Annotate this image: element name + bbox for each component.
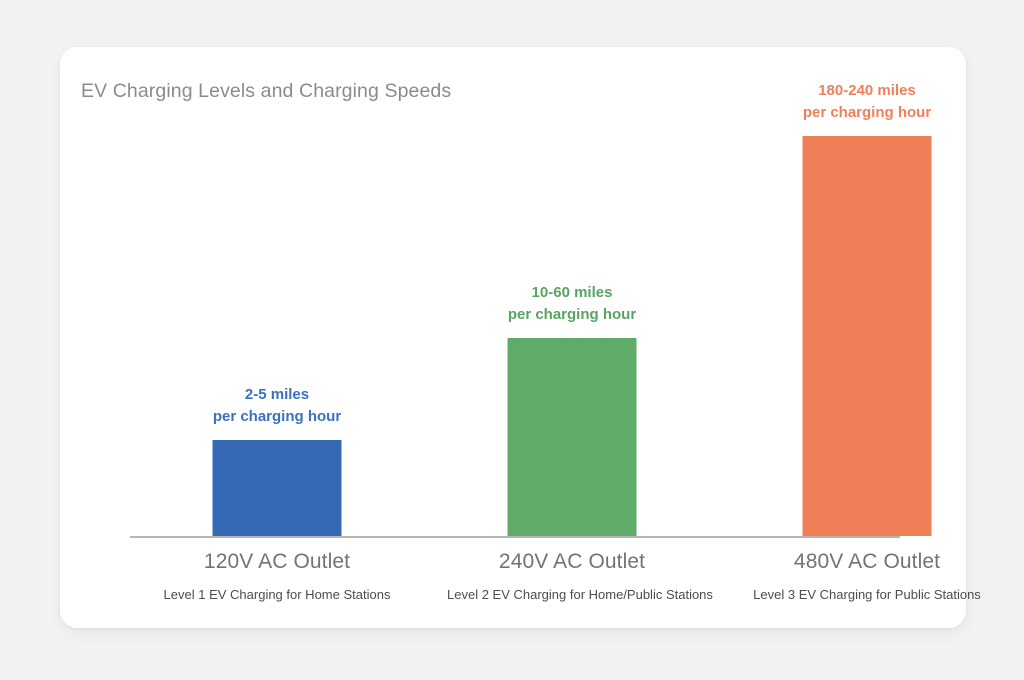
category-block-480v: 480V AC Outlet Level 3 EV Charging for P… — [742, 536, 992, 602]
category-name-240v: 240V AC Outlet — [447, 550, 697, 574]
category-label-row: 120V AC Outlet Level 1 EV Charging for H… — [60, 536, 966, 628]
plot-area: 2-5 miles per charging hour 10-60 miles … — [60, 47, 966, 628]
category-name-480v: 480V AC Outlet — [742, 550, 992, 574]
category-name-120v: 120V AC Outlet — [152, 550, 402, 574]
bar-value-line1: 180-240 miles — [818, 82, 916, 99]
bar-480v[interactable] — [803, 136, 932, 536]
bar-value-label-480v: 180-240 miles per charging hour — [803, 80, 931, 123]
category-subtitle-480v: Level 3 EV Charging for Public Stations — [742, 587, 992, 602]
bar-value-line1: 10-60 miles — [532, 284, 613, 301]
bar-value-line2: per charging hour — [213, 406, 341, 428]
bar-value-label-240v: 10-60 miles per charging hour — [508, 282, 636, 325]
chart-card: EV Charging Levels and Charging Speeds 2… — [60, 47, 966, 628]
bar-value-line2: per charging hour — [803, 102, 931, 124]
bar-240v[interactable] — [508, 338, 637, 536]
bar-group-240v: 10-60 miles per charging hour — [447, 47, 697, 536]
bar-group-480v: 180-240 miles per charging hour — [742, 47, 992, 536]
bar-value-line2: per charging hour — [508, 304, 636, 326]
category-subtitle-120v: Level 1 EV Charging for Home Stations — [152, 587, 402, 602]
category-block-240v: 240V AC Outlet Level 2 EV Charging for H… — [447, 536, 697, 602]
bar-120v[interactable] — [213, 440, 342, 536]
category-subtitle-240v: Level 2 EV Charging for Home/Public Stat… — [447, 587, 697, 602]
page-root: EV Charging Levels and Charging Speeds 2… — [0, 0, 1024, 680]
bar-value-line1: 2-5 miles — [245, 386, 309, 403]
category-block-120v: 120V AC Outlet Level 1 EV Charging for H… — [152, 536, 402, 602]
bar-value-label-120v: 2-5 miles per charging hour — [213, 384, 341, 427]
bar-group-120v: 2-5 miles per charging hour — [152, 47, 402, 536]
